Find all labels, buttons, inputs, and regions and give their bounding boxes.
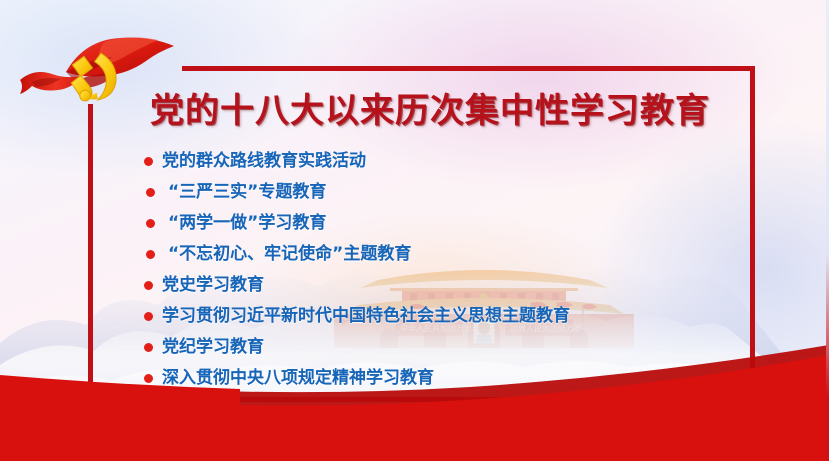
list-item-label: 党史学习教育 [162,275,264,295]
bullet-dot-icon [146,188,155,197]
page-title: 党的十八大以来历次集中性学习教育 [150,83,710,129]
bullet-dot-icon [144,157,153,166]
list-item-label: “不忘初心、牢记使命”主题教育 [168,244,411,264]
list-item[interactable]: 党史学习教育 [144,270,744,301]
bottom-red-banner [0,341,829,461]
list-item[interactable]: “不忘初心、牢记使命”主题教育 [144,239,744,270]
bullet-dot-icon [144,312,153,321]
bullet-dot-icon [146,219,155,228]
list-item[interactable]: 党的群众路线教育实践活动 [144,146,744,177]
list-item[interactable]: 学习贯彻习近平新时代中国特色社会主义思想主题教育 [144,301,744,332]
list-item-label: 党的群众路线教育实践活动 [162,151,366,171]
list-item-label: “三严三实”专题教育 [168,182,326,202]
slide-canvas: 中华人民共和国万岁 世界人民大团结万岁 [0,0,829,461]
list-item-label: 学习贯彻习近平新时代中国特色社会主义思想主题教育 [162,306,570,326]
bullet-dot-icon [144,281,153,290]
frame-border-top [182,66,755,71]
list-item[interactable]: “两学一做”学习教育 [144,208,744,239]
list-item-label: “两学一做”学习教育 [168,213,326,233]
bullet-dot-icon [146,250,155,259]
list-item[interactable]: “三严三实”专题教育 [144,177,744,208]
